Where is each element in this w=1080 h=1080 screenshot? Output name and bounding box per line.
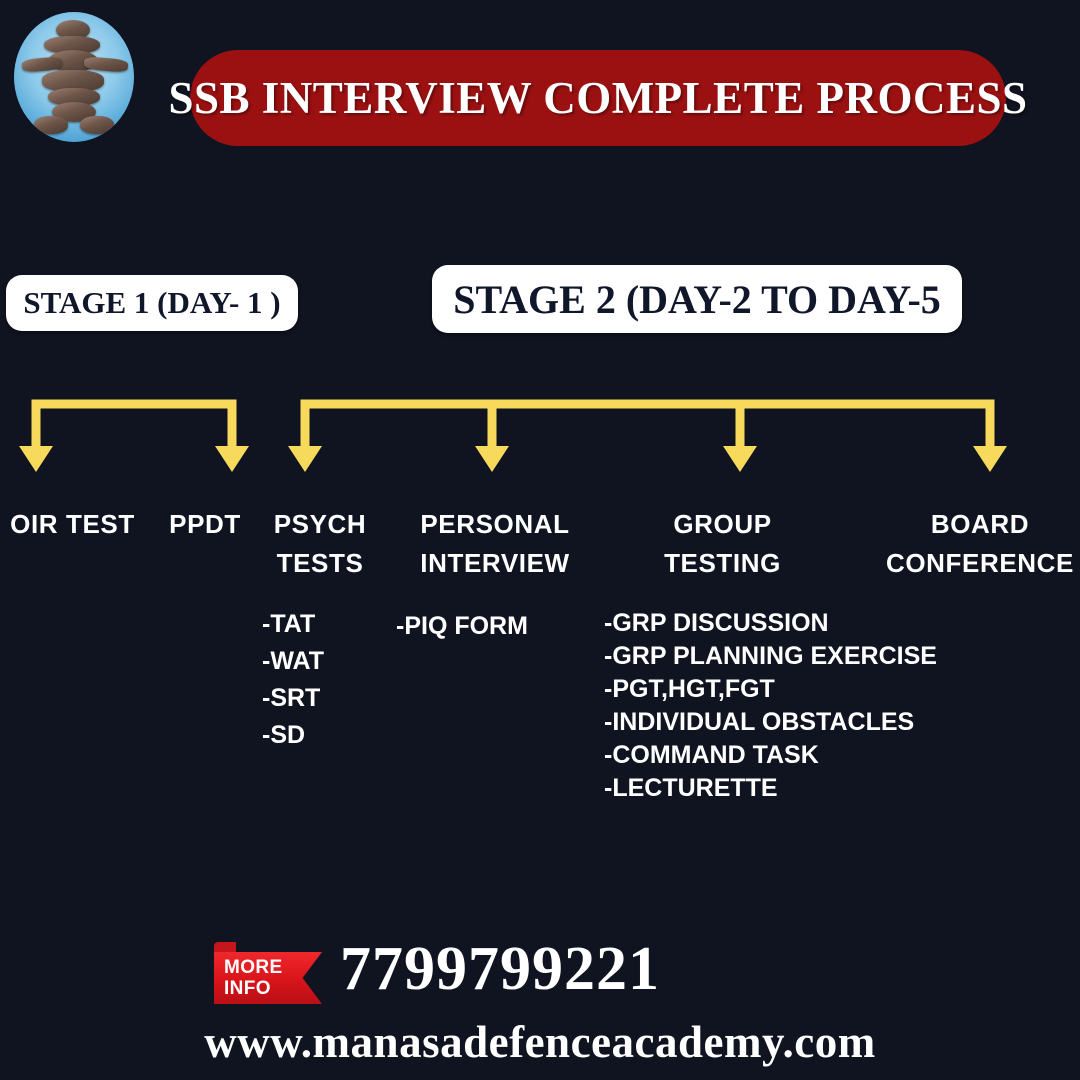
arrowhead-ppdt-icon	[215, 446, 249, 472]
infographic-poster: SSB INTERVIEW COMPLETE PROCESS STAGE 1 (…	[0, 0, 1080, 1080]
group-testing-line-2: TESTING	[640, 544, 805, 583]
stacked-stones-logo-icon	[14, 12, 134, 142]
arrowhead-personal-interview-icon	[475, 446, 509, 472]
stage-2-label: STAGE 2 (DAY-2 TO DAY-5	[453, 276, 941, 323]
arrowhead-group-testing-icon	[723, 446, 757, 472]
stage-2-badge: STAGE 2 (DAY-2 TO DAY-5	[432, 265, 962, 333]
psych-line-1: PSYCH	[240, 505, 400, 544]
column-heading-board-conference: BOARD CONFERENCE	[880, 505, 1080, 583]
list-item: -PGT,HGT,FGT	[604, 673, 937, 706]
ribbon-flag: MORE INFO	[214, 952, 322, 1004]
column-heading-oir-test: OIR TEST	[0, 505, 145, 544]
list-item: -INDIVIDUAL OBSTACLES	[604, 706, 937, 739]
list-item: -COMMAND TASK	[604, 739, 937, 772]
page-title: SSB INTERVIEW COMPLETE PROCESS	[168, 72, 1027, 124]
list-item: -SD	[262, 717, 324, 754]
personal-interview-line-1: PERSONAL	[390, 505, 600, 544]
flow-connectors	[0, 390, 1080, 500]
personal-interview-line-2: INTERVIEW	[390, 544, 600, 583]
list-personal-interview: -PIQ FORM	[396, 608, 528, 645]
board-conference-line-2: CONFERENCE	[880, 544, 1080, 583]
arrowhead-oir-icon	[19, 446, 53, 472]
psych-line-2: TESTS	[240, 544, 400, 583]
contact-phone-number: 7799799221	[340, 934, 660, 1005]
list-item: -WAT	[262, 643, 324, 680]
more-info-ribbon-badge: MORE INFO	[214, 942, 322, 1004]
stage-1-label: STAGE 1 (DAY- 1 )	[23, 285, 280, 321]
column-heading-group-testing: GROUP TESTING	[640, 505, 805, 583]
list-item: -LECTURETTE	[604, 772, 937, 805]
board-conference-line-1: BOARD	[880, 505, 1080, 544]
list-group-testing: -GRP DISCUSSION -GRP PLANNING EXERCISE -…	[604, 607, 937, 805]
more-info-line-2: INFO	[224, 978, 271, 999]
stage-1-badge: STAGE 1 (DAY- 1 )	[6, 275, 298, 331]
list-item: -GRP PLANNING EXERCISE	[604, 640, 937, 673]
list-item: -GRP DISCUSSION	[604, 607, 937, 640]
list-item: -TAT	[262, 606, 324, 643]
arrowhead-board-conference-icon	[973, 446, 1007, 472]
list-item: -SRT	[262, 680, 324, 717]
list-item: -PIQ FORM	[396, 608, 528, 645]
oir-test-line-1: OIR TEST	[0, 505, 145, 544]
column-heading-personal-interview: PERSONAL INTERVIEW	[390, 505, 600, 583]
column-heading-psych-tests: PSYCH TESTS	[240, 505, 400, 583]
list-psych-tests: -TAT -WAT -SRT -SD	[262, 606, 324, 754]
arrowhead-psych-icon	[288, 446, 322, 472]
website-url: www.manasadefenceacademy.com	[0, 1016, 1080, 1068]
title-banner: SSB INTERVIEW COMPLETE PROCESS	[190, 50, 1006, 146]
group-testing-line-1: GROUP	[640, 505, 805, 544]
more-info-line-1: MORE	[224, 957, 283, 978]
